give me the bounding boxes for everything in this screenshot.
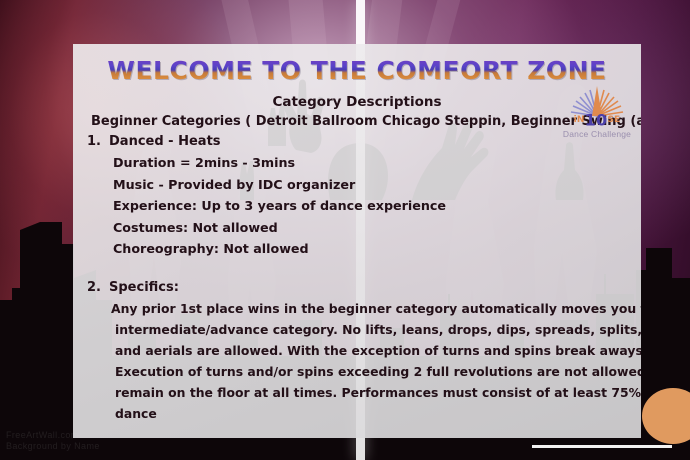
logo-suffix: SE: [607, 115, 620, 125]
section-specifics: 2.Specifics: Any prior 1st place wins in…: [87, 280, 625, 424]
section-danced-heats: 1.Danced - Heats Duration = 2mins - 3min…: [87, 134, 625, 260]
beginner-categories-line: Beginner Categories ( Detroit Ballroom C…: [91, 114, 571, 129]
logo-prefix: iN: [574, 115, 585, 125]
section-1-title: Danced - Heats: [109, 134, 221, 149]
slide-content-card: Welcome To The Comfort Zone Category Des…: [73, 44, 641, 438]
section-1-heading: 1.Danced - Heats: [87, 134, 625, 149]
section-2-line: dance: [111, 403, 625, 424]
section-1-line: Music - Provided by IDC organizer: [87, 174, 625, 196]
section-2-line: Any prior 1st place wins in the beginner…: [111, 298, 625, 319]
section-2-title: Specifics:: [109, 280, 179, 295]
section-1-number: 1.: [87, 134, 109, 149]
subtitle: Category Descriptions: [73, 94, 641, 110]
section-2-line: remain on the floor at all times. Perfor…: [111, 382, 625, 403]
section-2-number: 2.: [87, 280, 109, 295]
in10se-logo: iN10SE Dance Challenge: [561, 82, 633, 144]
section-2-line: Execution of turns and/or spins exceedin…: [111, 361, 625, 382]
logo-wordmark: iN10SE: [561, 112, 633, 129]
section-1-line: Choreography: Not allowed: [87, 238, 625, 260]
section-1-line: Costumes: Not allowed: [87, 217, 625, 239]
decorative-white-line: [532, 445, 672, 448]
section-2-heading: 2.Specifics:: [87, 280, 625, 295]
logo-number: 10: [585, 111, 608, 130]
section-2-line: and aerials are allowed. With the except…: [111, 340, 625, 361]
page-title: Welcome To The Comfort Zone: [73, 56, 641, 85]
section-2-paragraph: Any prior 1st place wins in the beginner…: [87, 298, 625, 424]
section-2-line: intermediate/advance category. No lifts,…: [111, 319, 625, 340]
slide-canvas: FreeArtWall.com Background by Name Welco…: [0, 0, 690, 460]
logo-tagline: Dance Challenge: [555, 129, 639, 139]
section-1-line: Duration = 2mins - 3mins: [87, 152, 625, 174]
section-1-line: Experience: Up to 3 years of dance exper…: [87, 195, 625, 217]
